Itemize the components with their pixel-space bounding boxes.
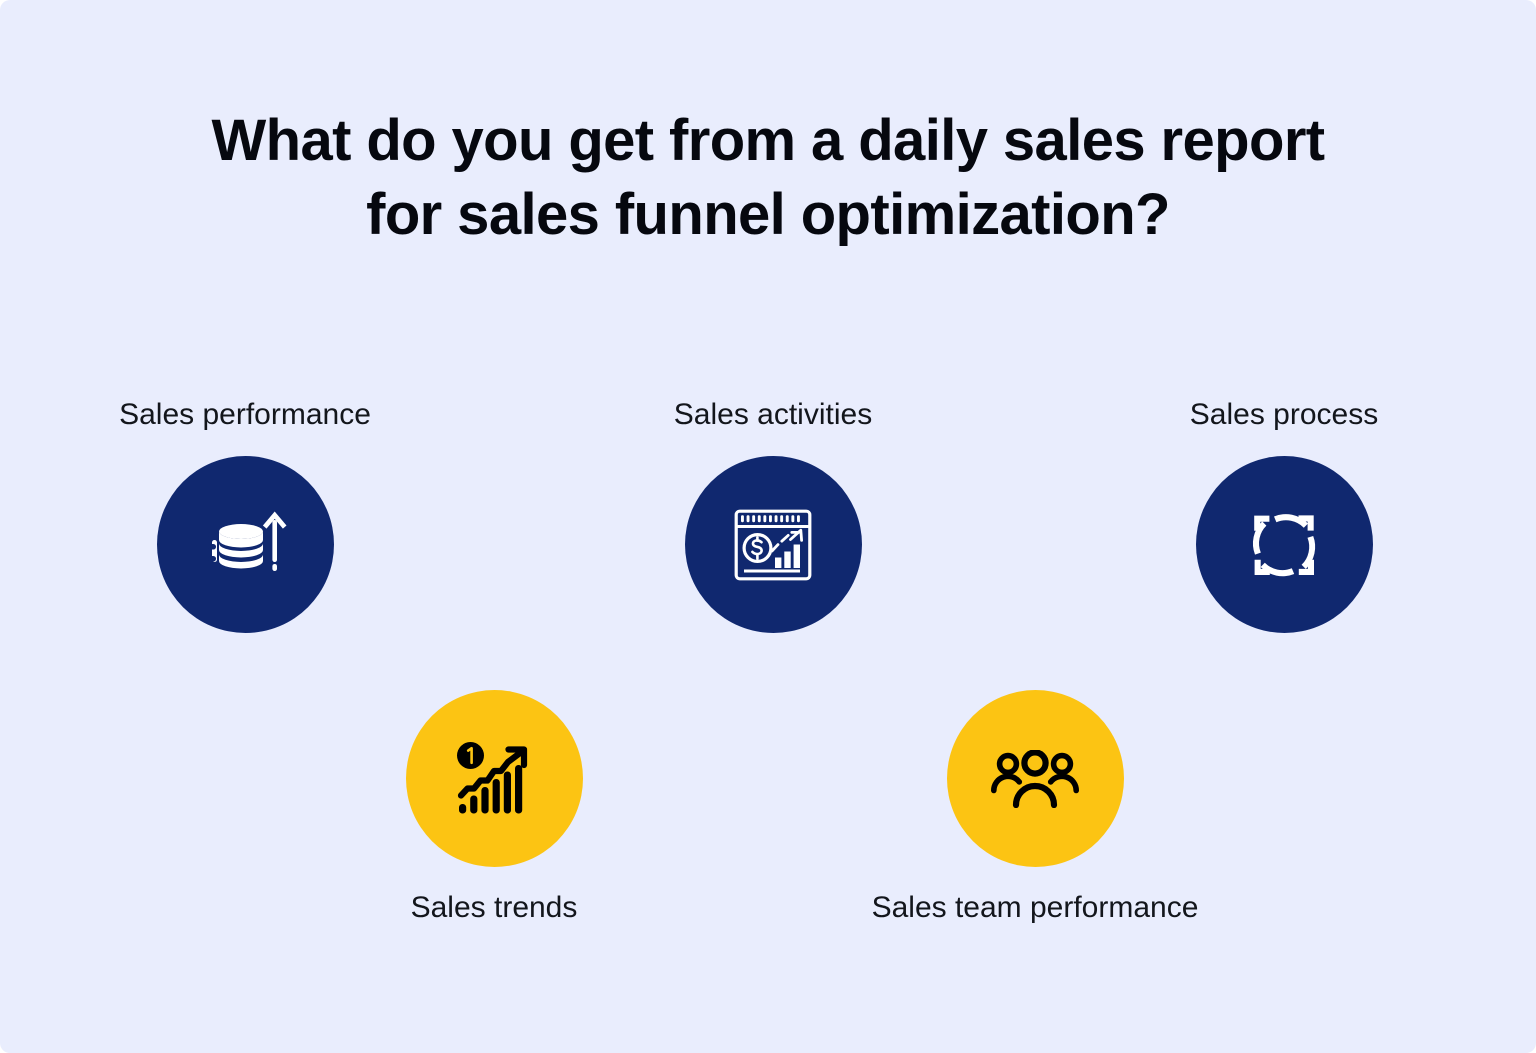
item-sales-performance: Sales performance xyxy=(5,396,485,633)
trending-up-bars-coin-icon xyxy=(454,740,534,818)
icon-circle-sales-trends xyxy=(406,690,583,867)
infographic-canvas: What do you get from a daily sales repor… xyxy=(0,0,1536,1053)
item-label-sales-activities: Sales activities xyxy=(674,396,872,434)
item-label-sales-team-performance: Sales team performance xyxy=(872,889,1199,927)
page-title: What do you get from a daily sales repor… xyxy=(0,104,1536,252)
icon-circle-sales-team-performance xyxy=(947,690,1124,867)
item-label-sales-process: Sales process xyxy=(1190,396,1378,434)
item-label-sales-performance: Sales performance xyxy=(119,396,371,434)
circular-arrows-process-icon xyxy=(1246,507,1322,583)
title-line-1: What do you get from a daily sales repor… xyxy=(0,104,1536,178)
title-line-2: for sales funnel optimization? xyxy=(0,178,1536,252)
icon-circle-sales-activities xyxy=(685,456,862,633)
item-sales-team-performance: Sales team performance xyxy=(795,690,1275,927)
coin-stack-growth-icon xyxy=(202,502,288,588)
icon-circle-sales-performance xyxy=(157,456,334,633)
item-sales-activities: Sales activities xyxy=(533,396,1013,633)
browser-dollar-bar-chart-icon xyxy=(734,509,812,581)
icon-circle-sales-process xyxy=(1196,456,1373,633)
people-group-icon xyxy=(991,750,1079,808)
item-sales-process: Sales process xyxy=(1044,396,1524,633)
item-sales-trends: Sales trends xyxy=(254,690,734,927)
item-label-sales-trends: Sales trends xyxy=(411,889,578,927)
